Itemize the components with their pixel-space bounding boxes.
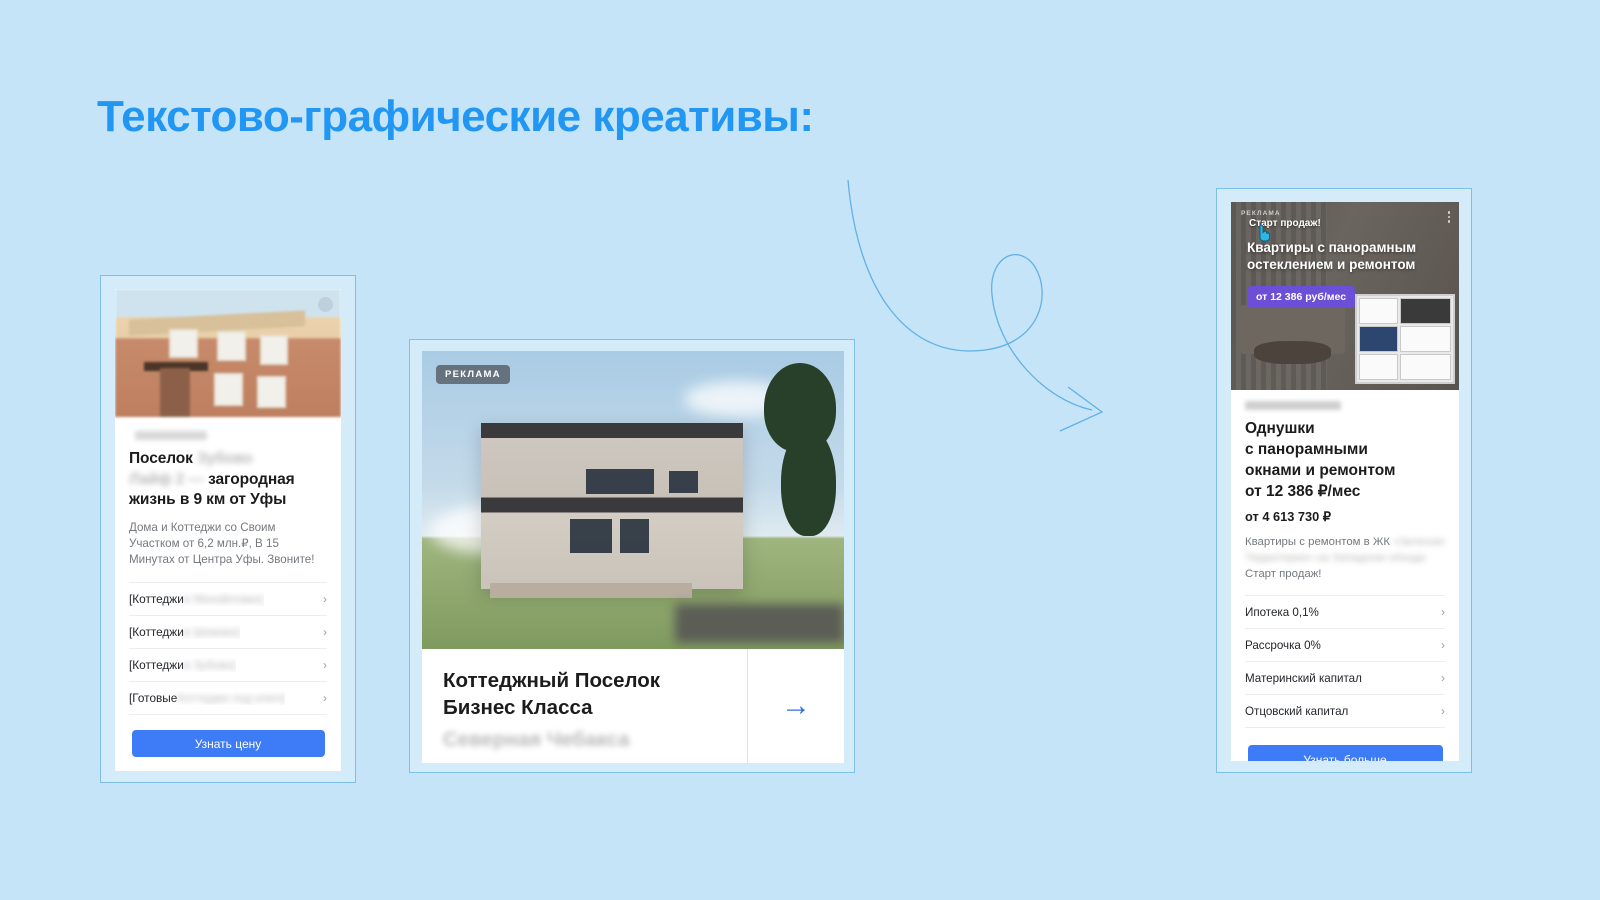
list-item-label: Отцовский капитал bbox=[1245, 705, 1348, 718]
left-card-body: Поселок Зубово Лайф 2 — загородная жизнь… bbox=[115, 417, 341, 757]
headline-line-2: Бизнес Класса bbox=[443, 696, 593, 719]
price-badge: от 12 386 руб/мес bbox=[1247, 286, 1355, 308]
chevron-right-icon: › bbox=[1435, 704, 1445, 718]
description-blurred-2: на Западном обходе. bbox=[1316, 552, 1428, 564]
headline-line-4: от 12 386 ₽/мес bbox=[1245, 483, 1360, 500]
pointer-hand-icon bbox=[1257, 224, 1273, 242]
ad-badge: РЕКЛАМА bbox=[1241, 210, 1281, 217]
curved-loop-arrow-icon bbox=[830, 175, 1170, 455]
left-card-house-photo bbox=[115, 289, 341, 417]
right-card-headline: Однушки с панорамными окнами и ремонтом … bbox=[1245, 419, 1445, 503]
info-icon[interactable] bbox=[318, 297, 333, 312]
chevron-right-icon: › bbox=[317, 691, 327, 705]
right-card-body: Однушки с панорамными окнами и ремонтом … bbox=[1231, 390, 1459, 761]
learn-price-button[interactable]: Узнать цену bbox=[132, 730, 325, 757]
center-card-house-photo: РЕКЛАМА bbox=[422, 351, 844, 649]
creative-card-right[interactable]: РЕКЛАМА Старт продаж! Квартиры с панорам… bbox=[1216, 188, 1472, 773]
left-card-inner: Поселок Зубово Лайф 2 — загородная жизнь… bbox=[115, 289, 341, 771]
left-card-description: Дома и Коттеджи со Своим Участком от 6,2… bbox=[129, 520, 327, 568]
right-card-link-list: Ипотека 0,1% › Рассрочка 0% › Матерински… bbox=[1245, 595, 1445, 728]
chevron-right-icon: › bbox=[1435, 638, 1445, 652]
banner-headline: Квартиры с панорамным остеклением и ремо… bbox=[1247, 240, 1443, 274]
left-card-headline: Поселок Зубово Лайф 2 — загородная жизнь… bbox=[129, 449, 327, 511]
list-item[interactable]: [ГотовыеКоттеджи под ключ] › bbox=[129, 682, 327, 715]
chevron-right-icon: › bbox=[317, 658, 327, 672]
headline-blurred-segment: Зубово bbox=[197, 450, 253, 467]
advertiser-domain bbox=[135, 431, 207, 440]
headline-line-1: Однушки bbox=[1245, 420, 1315, 437]
left-card-link-list: [Коттеджив Михайловке] › [Коттеджив Шемя… bbox=[129, 582, 327, 715]
description-segment-1: Квартиры с ремонтом в ЖК bbox=[1245, 536, 1390, 548]
headline-line-1: Коттеджный Поселок bbox=[443, 669, 660, 692]
ad-badge: РЕКЛАМА bbox=[436, 365, 510, 384]
headline-segment-2: загородная bbox=[208, 471, 294, 488]
right-card-banner-image: РЕКЛАМА Старт продаж! Квартиры с панорам… bbox=[1231, 202, 1459, 390]
list-item-label: [Коттеджив Михайловке] bbox=[129, 592, 264, 606]
headline-line-3: окнами и ремонтом bbox=[1245, 462, 1395, 479]
list-item-label: [Коттеджив Зубово] bbox=[129, 658, 236, 672]
right-card-inner: РЕКЛАМА Старт продаж! Квартиры с панорам… bbox=[1231, 202, 1459, 761]
list-item[interactable]: [Коттеджив Михайловке] › bbox=[129, 582, 327, 616]
chevron-right-icon: › bbox=[317, 592, 327, 606]
kebab-menu-icon[interactable] bbox=[1448, 211, 1451, 223]
creative-card-left[interactable]: Поселок Зубово Лайф 2 — загородная жизнь… bbox=[100, 275, 356, 783]
headline-line-2: с панорамными bbox=[1245, 441, 1368, 458]
chevron-right-icon: › bbox=[1435, 671, 1445, 685]
list-item-label: Ипотека 0,1% bbox=[1245, 606, 1319, 619]
list-item[interactable]: Ипотека 0,1% › bbox=[1245, 595, 1445, 629]
center-card-blurred-subtitle: Северная Чебакса bbox=[443, 728, 747, 752]
creative-card-center[interactable]: РЕКЛАМА Коттеджный Поселок Бизнес Класса… bbox=[409, 339, 855, 773]
list-item[interactable]: Рассрочка 0% › bbox=[1245, 629, 1445, 662]
learn-more-button[interactable]: Узнать больше bbox=[1248, 745, 1443, 761]
description-segment-2: Старт продаж! bbox=[1245, 568, 1321, 580]
center-card-inner: РЕКЛАМА Коттеджный Поселок Бизнес Класса… bbox=[422, 351, 844, 763]
list-item[interactable]: Материнский капитал › bbox=[1245, 662, 1445, 695]
list-item[interactable]: [Коттеджив Зубово] › bbox=[129, 649, 327, 682]
page-title: Текстово-графические креативы: bbox=[97, 92, 814, 142]
list-item-label: [ГотовыеКоттеджи под ключ] bbox=[129, 691, 285, 705]
list-item[interactable]: Отцовский капитал › bbox=[1245, 695, 1445, 728]
center-card-footer: Коттеджный Поселок Бизнес Класса Северна… bbox=[422, 649, 844, 763]
list-item-label: Материнский капитал bbox=[1245, 672, 1362, 685]
total-price: от 4 613 730 ₽ bbox=[1245, 509, 1445, 525]
list-item[interactable]: [Коттеджив Шемяке] › bbox=[129, 616, 327, 649]
list-item-label: Рассрочка 0% bbox=[1245, 639, 1321, 652]
headline-segment: Поселок bbox=[129, 450, 193, 467]
right-card-description: Квартиры с ремонтом в ЖК «Зеленая Террит… bbox=[1245, 534, 1445, 583]
list-item-label: [Коттеджив Шемяке] bbox=[129, 625, 240, 639]
center-card-text-block: Коттеджный Поселок Бизнес Класса Северна… bbox=[422, 649, 747, 763]
arrow-right-icon[interactable]: → bbox=[781, 691, 811, 721]
floor-plan-thumbnail bbox=[1355, 294, 1455, 384]
chevron-right-icon: › bbox=[1435, 605, 1445, 619]
center-card-headline: Коттеджный Поселок Бизнес Класса bbox=[443, 667, 747, 722]
headline-segment-3: жизнь в 9 км от Уфы bbox=[129, 491, 286, 508]
headline-blurred-segment-2: Лайф 2 — bbox=[129, 471, 204, 488]
advertiser-domain bbox=[1245, 401, 1341, 410]
chevron-right-icon: › bbox=[317, 625, 327, 639]
center-card-cta-area[interactable]: → bbox=[747, 649, 844, 763]
